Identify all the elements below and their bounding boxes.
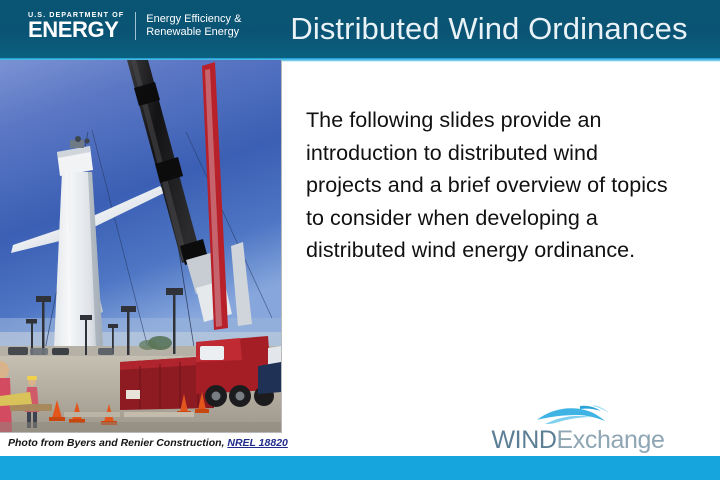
doe-logo: U.S. DEPARTMENT OF ENERGY Energy Efficie… [28,11,241,41]
photo-caption: Photo from Byers and Renier Construction… [8,437,288,449]
wind-swoosh-icon [535,404,621,426]
page-title: Distributed Wind Ordinances [266,8,712,50]
wordmark-wind: WIND [491,426,556,454]
turbine-construction-photo [0,60,282,433]
nrel-image-link[interactable]: NREL 18820 [227,437,288,449]
doe-logo-right: Energy Efficiency & Renewable Energy [136,11,241,41]
doe-office-line-2: Renewable Energy [146,26,241,40]
slide: U.S. DEPARTMENT OF ENERGY Energy Efficie… [0,0,720,480]
slide-body-text: The following slides provide an introduc… [306,104,674,267]
doe-logo-left: U.S. DEPARTMENT OF ENERGY [28,11,135,41]
windexchange-wordmark: WINDExchange [487,427,669,453]
doe-office-line-1: Energy Efficiency & [146,13,241,27]
photo-illustration [0,60,281,432]
photo-caption-text: Photo from Byers and Renier Construction… [8,437,227,449]
wordmark-exchange: Exchange [557,426,665,454]
doe-energy-wordmark: ENERGY [28,20,124,41]
footer-bar [0,456,720,480]
